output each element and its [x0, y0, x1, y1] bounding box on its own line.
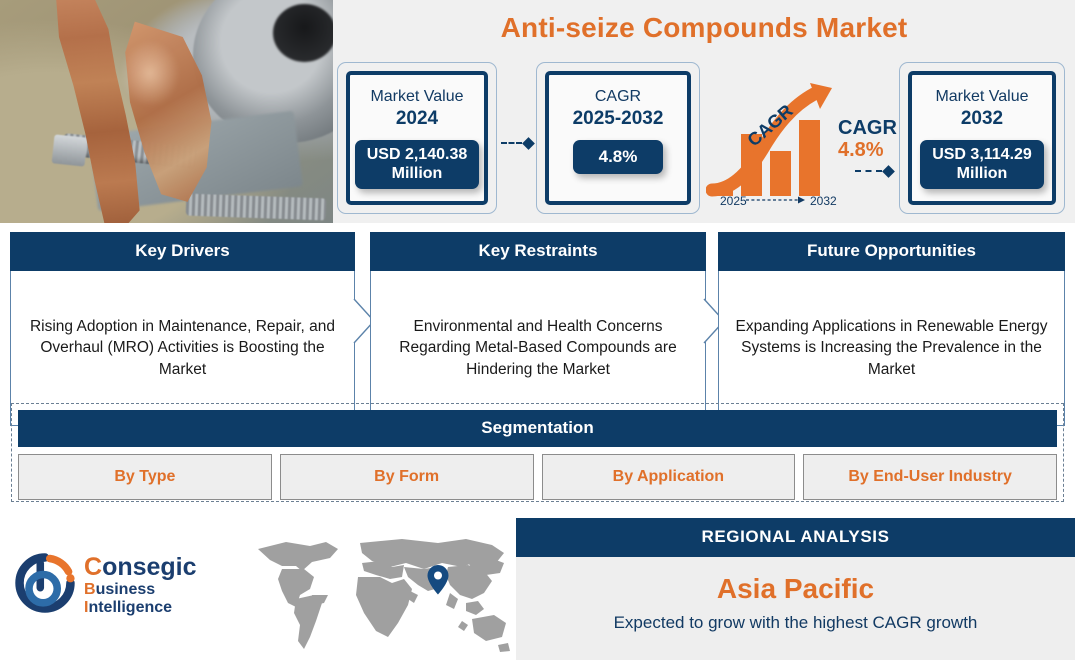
stat-value-amount: USD 2,140.38	[367, 146, 468, 165]
connector-diamond-icon	[522, 137, 535, 150]
connector-diamond-icon	[882, 165, 895, 178]
logo-wordmark: Consegic Business Intelligence	[84, 554, 242, 616]
regional-analysis-region: Asia Pacific	[516, 573, 1075, 605]
logo-tagline-usiness: usiness	[96, 581, 156, 598]
stat-card-label: Market Value	[370, 87, 463, 107]
panel-heading: Key Restraints	[370, 232, 706, 271]
cagr-callout-label: CAGR	[838, 118, 897, 139]
axis-start-label: 2025	[720, 194, 747, 206]
segmentation-item-by-type[interactable]: By Type	[18, 454, 272, 500]
stat-card-inner: CAGR 2025-2032 4.8%	[545, 71, 691, 205]
stat-value-unit: Million	[932, 165, 1032, 184]
stat-card-value-pill: USD 3,114.29 Million	[920, 140, 1044, 190]
logo-name-rest: onsegic	[102, 553, 196, 581]
regional-analysis-subtitle: Expected to grow with the highest CAGR g…	[516, 613, 1075, 633]
page-title: Anti-seize Compounds Market	[333, 12, 1075, 44]
segmentation-item-by-application[interactable]: By Application	[542, 454, 796, 500]
logo-tagline-b: B	[84, 581, 96, 598]
logo-tagline: Business Intelligence	[84, 581, 242, 616]
stat-value-amount: USD 3,114.29	[932, 146, 1032, 165]
regional-analysis-heading: REGIONAL ANALYSIS	[516, 518, 1075, 557]
stat-value-unit: Million	[367, 165, 468, 184]
stat-card-market-value-2024: Market Value 2024 USD 2,140.38 Million	[337, 62, 497, 214]
logo-tagline-ntelligence: ntelligence	[88, 599, 172, 616]
bar-chart-arrow-icon: CAGR 2025 2032	[706, 78, 851, 206]
stat-card-inner: Market Value 2032 USD 3,114.29 Million	[908, 71, 1056, 205]
connector-line	[501, 142, 522, 144]
segmentation-heading: Segmentation	[18, 410, 1057, 447]
stat-card-year: 2024	[396, 107, 438, 132]
cagr-callout: CAGR 4.8%	[838, 118, 897, 161]
segmentation-item-by-end-user-industry[interactable]: By End-User Industry	[803, 454, 1057, 500]
photo-bolt-head	[52, 134, 88, 166]
logo-name-first: C	[84, 553, 102, 581]
panel-heading: Future Opportunities	[718, 232, 1065, 271]
stat-card-year: 2032	[961, 107, 1003, 132]
company-logo: Consegic Business Intelligence	[12, 548, 242, 626]
panel-future-opportunities: Future Opportunities Expanding Applicati…	[718, 232, 1065, 426]
stat-card-value-pill: USD 2,140.38 Million	[355, 140, 480, 190]
segmentation-items: By Type By Form By Application By End-Us…	[18, 454, 1057, 500]
stat-card-value-pill: 4.8%	[573, 140, 664, 174]
photo-hub-hole	[273, 4, 333, 62]
panel-heading: Key Drivers	[10, 232, 355, 271]
stat-card-market-value-2032: Market Value 2032 USD 3,114.29 Million	[899, 62, 1065, 214]
growth-chart-graphic: CAGR 2025 2032	[706, 78, 851, 206]
stat-card-cagr: CAGR 2025-2032 4.8%	[536, 62, 700, 214]
infographic-canvas: Anti-seize Compounds Market Market Value…	[0, 0, 1075, 660]
hero-section: Anti-seize Compounds Market Market Value…	[0, 0, 1075, 223]
photo-specular-highlight	[120, 40, 180, 107]
world-map-landmasses	[258, 539, 510, 652]
panel-key-drivers: Key Drivers Rising Adoption in Maintenan…	[10, 232, 355, 426]
stat-card-period: 2025-2032	[573, 107, 664, 132]
connector-dashed-1	[501, 138, 533, 148]
stat-card-label: CAGR	[595, 87, 641, 107]
panel-key-restraints: Key Restraints Environmental and Health …	[370, 232, 706, 426]
world-map	[252, 533, 514, 655]
connector-dashed-2	[855, 166, 893, 176]
stat-card-inner: Market Value 2024 USD 2,140.38 Million	[346, 71, 488, 205]
consegic-logo-mark-icon	[12, 550, 78, 616]
product-photo	[0, 0, 333, 223]
axis-end-label: 2032	[810, 194, 837, 206]
logo-name: Consegic	[84, 554, 242, 580]
cagr-callout-value: 4.8%	[838, 139, 897, 161]
stat-card-label: Market Value	[935, 87, 1028, 107]
regional-analysis-section: REGIONAL ANALYSIS Asia Pacific Expected …	[516, 518, 1075, 660]
map-pin-hole	[434, 572, 442, 580]
segmentation-section: Segmentation By Type By Form By Applicat…	[11, 403, 1064, 502]
segmentation-item-by-form[interactable]: By Form	[280, 454, 534, 500]
connector-line	[855, 170, 882, 172]
